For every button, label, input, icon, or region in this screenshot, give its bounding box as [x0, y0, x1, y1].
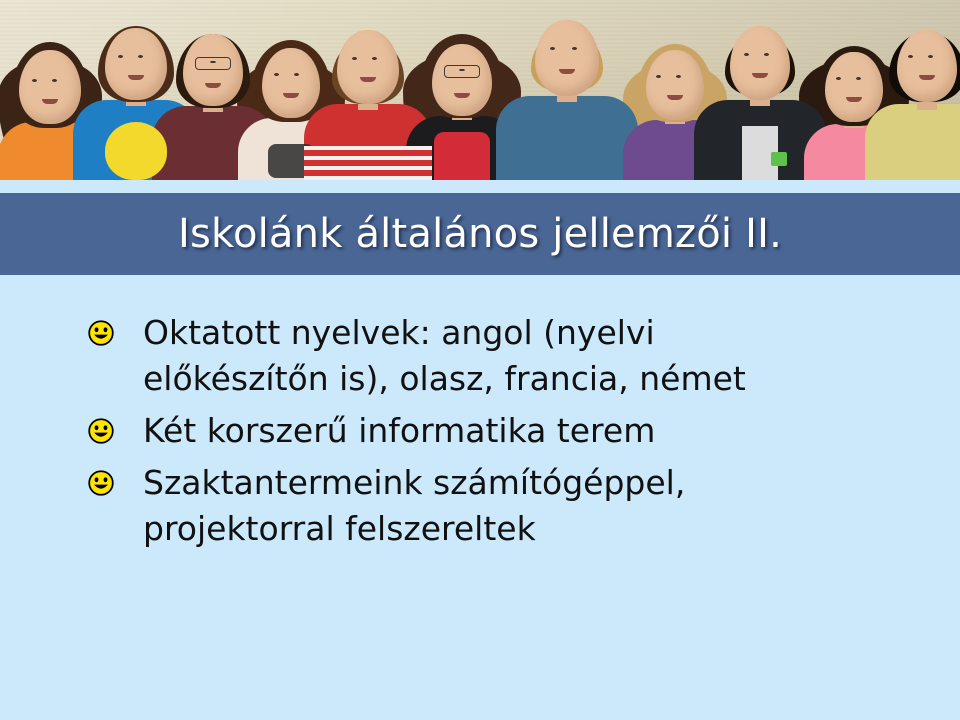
torso [865, 104, 960, 180]
eye-left [352, 57, 357, 60]
eye-right [572, 47, 577, 50]
mouth [360, 77, 376, 82]
eye-right [676, 75, 681, 78]
head [19, 50, 81, 124]
bullet-list: Oktatott nyelvek: angol (nyelvi előkészí… [88, 310, 918, 558]
shirt-smiley-print [105, 122, 167, 180]
eye-right [294, 73, 299, 76]
mouth [559, 69, 575, 74]
head [825, 52, 883, 122]
header-photo-banner [0, 0, 960, 180]
eye-left [744, 53, 749, 56]
smiley-face-icon [88, 418, 114, 444]
slide-title-band: Iskolánk általános jellemzői II. [0, 193, 960, 275]
eye-left [274, 73, 279, 76]
smiley-face-icon [88, 470, 114, 496]
head [262, 48, 320, 118]
jacket-logo [771, 152, 787, 166]
list-item: Oktatott nyelvek: angol (nyelvi előkészí… [88, 310, 918, 402]
mouth [919, 75, 935, 80]
mouth [283, 93, 299, 98]
head [183, 34, 243, 106]
eye-right [764, 53, 769, 56]
head [535, 20, 599, 96]
eye-left [550, 47, 555, 50]
eye-left [118, 55, 123, 58]
eye-right [52, 79, 57, 82]
mouth [205, 83, 221, 88]
mouth [846, 97, 862, 102]
shirt-stripes [304, 146, 432, 180]
eyeglasses-icon [195, 57, 231, 70]
eye-right [928, 55, 933, 58]
list-item-text: Szaktantermeink számítógéppel, projektor… [143, 460, 833, 552]
head [105, 28, 167, 100]
mouth [454, 93, 470, 98]
list-item-text: Oktatott nyelvek: angol (nyelvi előkészí… [143, 310, 833, 402]
mouth [128, 75, 144, 80]
mouth [42, 99, 58, 104]
red-top [434, 132, 490, 180]
head [432, 44, 492, 116]
eye-right [856, 77, 861, 80]
list-item-text: Két korszerű informatika terem [143, 408, 903, 454]
head [730, 26, 790, 100]
eye-left [836, 77, 841, 80]
eye-left [908, 55, 913, 58]
eyeglasses-icon [444, 65, 480, 78]
mouth [667, 95, 683, 100]
presentation-slide: Iskolánk általános jellemzői II. Oktatot… [0, 0, 960, 720]
eye-right [138, 55, 143, 58]
eye-left [32, 79, 37, 82]
head [646, 50, 704, 120]
list-item: Két korszerű informatika terem [88, 408, 918, 454]
slide-title: Iskolánk általános jellemzői II. [178, 214, 782, 254]
smiley-face-icon [88, 320, 114, 346]
eye-left [656, 75, 661, 78]
head [337, 30, 399, 104]
head [897, 30, 957, 102]
list-item: Szaktantermeink számítógéppel, projektor… [88, 460, 918, 552]
mouth [752, 73, 768, 78]
eye-right [372, 57, 377, 60]
torso [496, 96, 638, 180]
